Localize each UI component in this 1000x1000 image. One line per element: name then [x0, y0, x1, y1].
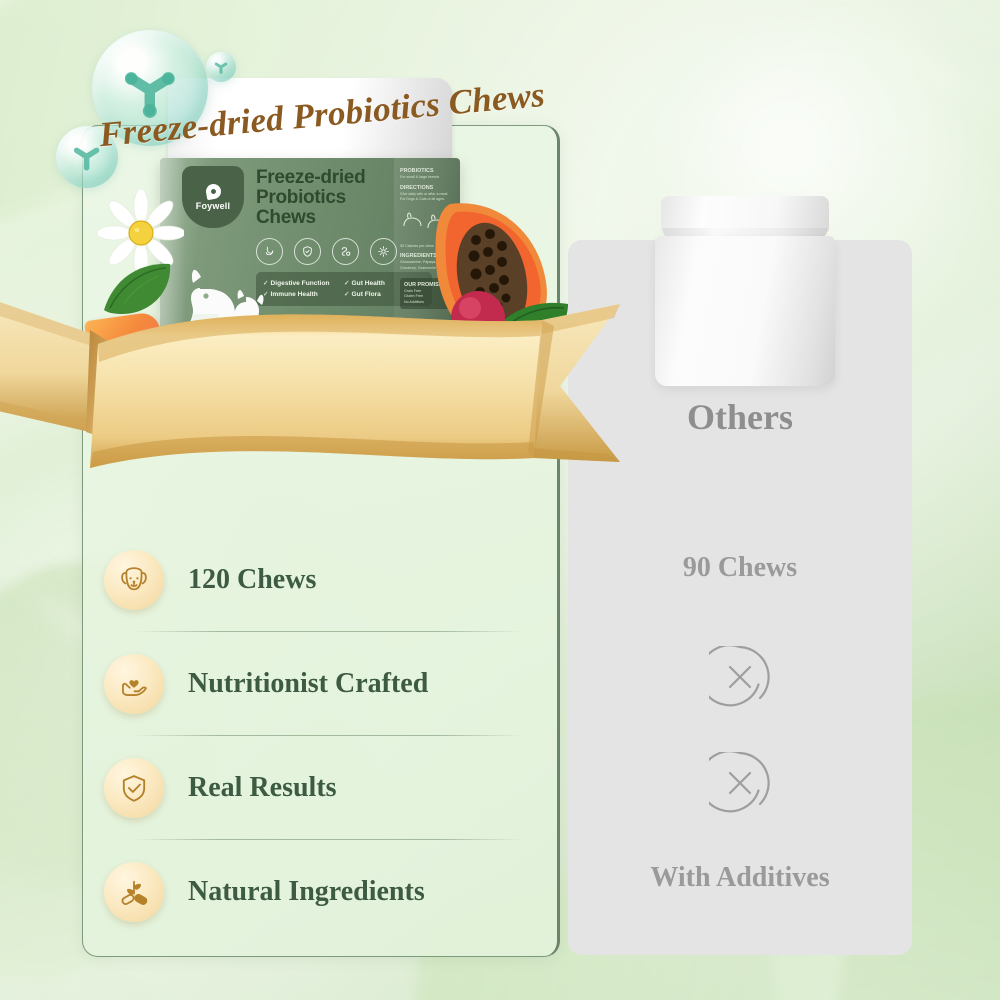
- feature-row: Natural Ingredients: [104, 840, 544, 944]
- infographic-canvas: Foywell Freeze-dried Probiotics Chews: [0, 0, 1000, 1000]
- feature-label: Nutritionist Crafted: [188, 668, 428, 700]
- plant-capsule-icon: [104, 862, 164, 922]
- feature-list: 120 Chews Nutritionist Crafted: [104, 528, 544, 944]
- side-text-1: For small & large breeds: [400, 175, 454, 181]
- product-title: Freeze-dried Probiotics Chews: [256, 168, 416, 228]
- competitor-jar: [655, 196, 835, 386]
- feature-row: 120 Chews: [104, 528, 544, 632]
- hand-heart-icon: [104, 654, 164, 714]
- others-title: Others: [568, 396, 912, 438]
- product-title-line-1: Freeze-dried: [256, 168, 416, 188]
- bacteria-icon: [370, 238, 397, 265]
- brand-name: Foywell: [196, 201, 230, 211]
- brand-badge: Foywell: [182, 166, 244, 228]
- shield-icon: [294, 238, 321, 265]
- product-title-line-2: Probiotics: [256, 188, 416, 208]
- competitor-jar-body: [655, 236, 835, 386]
- feature-label: 120 Chews: [188, 564, 316, 596]
- feature-row: Nutritionist Crafted: [104, 632, 544, 736]
- competitor-jar-lid: [661, 196, 829, 232]
- feature-label: Natural Ingredients: [188, 876, 425, 908]
- dog-face-icon: [104, 550, 164, 610]
- brand-paw-icon: [204, 182, 221, 199]
- feature-row: Real Results: [104, 736, 544, 840]
- probiotic-bubble-small: [206, 52, 236, 82]
- microbe-icon: [212, 58, 230, 76]
- shield-check-icon: [104, 758, 164, 818]
- product-title-line-3: Chews: [256, 208, 416, 228]
- others-chew-count: 90 Chews: [568, 552, 912, 584]
- side-heading-1: PROBIOTICS: [400, 168, 454, 175]
- gut-icon: [332, 238, 359, 265]
- side-heading-2: DIRECTIONS: [400, 185, 454, 192]
- others-additives-label: With Additives: [568, 862, 912, 894]
- feature-label: Real Results: [188, 772, 337, 804]
- banner-ribbon: [0, 282, 620, 482]
